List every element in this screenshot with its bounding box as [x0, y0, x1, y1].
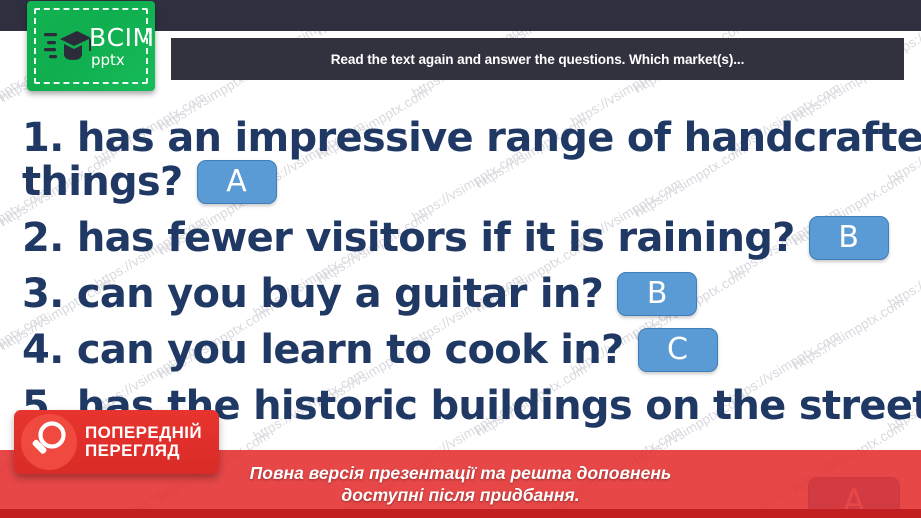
vsimpptx-logo[interactable]: ВСІМ pptx [27, 1, 155, 91]
slide-title-bar: Read the text again and answer the quest… [171, 38, 904, 80]
question-text: 3. can you buy a guitar in? [22, 274, 603, 314]
answer-badge-b[interactable]: B [809, 216, 889, 260]
logo-brand-sub: pptx [91, 53, 125, 68]
purchase-notice-text: Повна версія презентації та решта доповн… [250, 462, 672, 507]
question-text: 4. can you learn to cook in? [22, 330, 624, 370]
answer-badge-c[interactable]: C [638, 328, 718, 372]
answer-badge-b[interactable]: B [617, 272, 697, 316]
question-text: 1. has an impressive range of handcrafte… [22, 118, 921, 158]
question-text: 2. has fewer visitors if it is raining? [22, 218, 795, 258]
question-row-4: 4. can you learn to cook in? C [0, 322, 921, 378]
question-row-1: 1. has an impressive range of handcrafte… [0, 110, 921, 166]
preview-badge[interactable]: ПОПЕРЕДНІЙ ПЕРЕГЛЯД [14, 410, 219, 474]
preview-badge-line2: ПЕРЕГЛЯД [85, 442, 202, 460]
preview-badge-line1: ПОПЕРЕДНІЙ [85, 424, 202, 442]
purchase-notice-line2: доступні після придбання. [250, 484, 672, 506]
slide-viewer: 1. has an impressive range of handcrafte… [0, 0, 921, 518]
logo-brand-text: ВСІМ [89, 25, 155, 50]
answer-badge-a[interactable]: A [197, 160, 277, 204]
question-text: things? [22, 162, 183, 202]
purchase-notice-line1: Повна версія презентації та решта доповн… [250, 462, 672, 484]
magnifier-icon [21, 414, 77, 470]
question-row-3: 3. can you buy a guitar in? B [0, 266, 921, 322]
preview-badge-label: ПОПЕРЕДНІЙ ПЕРЕГЛЯД [85, 424, 202, 461]
graduation-cap-icon [44, 27, 92, 67]
question-row-1-continued: things? A [0, 154, 921, 210]
questions-list: 1. has an impressive range of handcrafte… [0, 110, 921, 434]
question-row-2: 2. has fewer visitors if it is raining? … [0, 210, 921, 266]
page-title: Read the text again and answer the quest… [331, 52, 745, 67]
